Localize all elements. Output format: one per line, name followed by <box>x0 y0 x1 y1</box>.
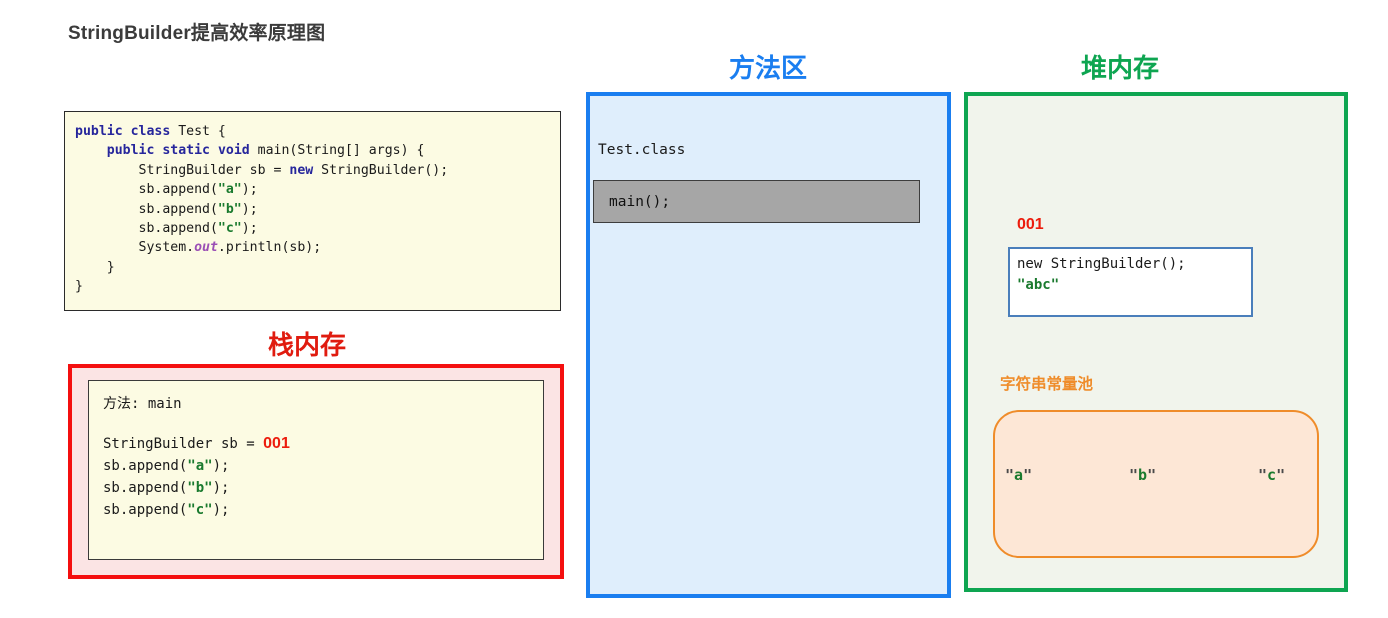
heap-object-address-label: 001 <box>1017 216 1044 234</box>
method-area-region <box>586 92 951 598</box>
code-lines: public class Test { public static void m… <box>75 122 560 297</box>
pool-quote-open: " <box>1129 466 1138 484</box>
stack-frame-method-label: 方法: main <box>103 393 543 415</box>
code-line: System.out.println(sb); <box>75 238 560 257</box>
pool-quote-open: " <box>1258 466 1267 484</box>
code-line: sb.append("b"); <box>103 477 543 499</box>
string-constant-pool-label: 字符串常量池 <box>1000 372 1093 394</box>
code-line: sb.append("c"); <box>75 219 560 238</box>
method-area-main-entry: main(); <box>593 180 920 223</box>
code-line: new StringBuilder(); <box>1017 254 1251 275</box>
string-constant-pool-box <box>993 410 1319 558</box>
heap-object-box: new StringBuilder();"abc" <box>1008 247 1253 317</box>
source-code-box: public class Test { public static void m… <box>64 111 561 311</box>
page-title: StringBuilder提高效率原理图 <box>68 18 325 45</box>
pool-quote-close: " <box>1023 466 1032 484</box>
code-line: } <box>75 277 560 296</box>
code-line: sb.append("a"); <box>103 455 543 477</box>
code-line: StringBuilder sb = 001 <box>103 433 543 455</box>
code-line: sb.append("b"); <box>75 200 560 219</box>
method-area-heading: 方法区 <box>693 48 843 85</box>
pool-literal-a: "a" <box>1005 466 1032 484</box>
pool-literal-value: a <box>1014 466 1023 484</box>
stack-frame-main: 方法: main StringBuilder sb = 001sb.append… <box>88 380 544 560</box>
code-line: sb.append("a"); <box>75 180 560 199</box>
method-area-class-label: Test.class <box>598 142 685 158</box>
method-area-main-label: main(); <box>609 194 670 210</box>
code-line: "abc" <box>1017 275 1251 296</box>
pool-literal-value: c <box>1267 466 1276 484</box>
code-line: public static void main(String[] args) { <box>75 141 560 160</box>
code-line: } <box>75 258 560 277</box>
pool-literal-b: "b" <box>1129 466 1156 484</box>
heap-memory-heading: 堆内存 <box>1045 48 1195 85</box>
code-line: StringBuilder sb = new StringBuilder(); <box>75 161 560 180</box>
pool-quote-close: " <box>1276 466 1285 484</box>
code-line: public class Test { <box>75 122 560 141</box>
heap-object-lines: new StringBuilder();"abc" <box>1017 254 1251 296</box>
stack-memory-heading: 栈内存 <box>232 325 382 362</box>
pool-literal-c: "c" <box>1258 466 1285 484</box>
stack-frame-lines: StringBuilder sb = 001sb.append("a");sb.… <box>103 433 543 521</box>
code-line: sb.append("c"); <box>103 499 543 521</box>
pool-literal-value: b <box>1138 466 1147 484</box>
stack-frame-spacer <box>103 415 543 433</box>
pool-quote-open: " <box>1005 466 1014 484</box>
pool-quote-close: " <box>1147 466 1156 484</box>
